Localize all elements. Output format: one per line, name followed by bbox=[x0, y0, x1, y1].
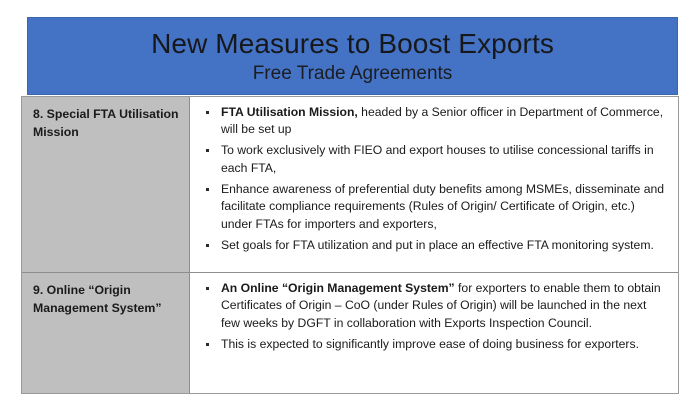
bullet-list: FTA Utilisation Mission, headed by a Sen… bbox=[202, 104, 666, 254]
row-body-cell: FTA Utilisation Mission, headed by a Sen… bbox=[190, 97, 678, 272]
bullet-list: An Online “Origin Management System” for… bbox=[202, 280, 666, 353]
row-label-text: 9. Online “Origin Management System” bbox=[33, 282, 179, 318]
list-item: This is expected to significantly improv… bbox=[202, 336, 666, 353]
row-label-cell: 9. Online “Origin Management System” bbox=[22, 273, 190, 393]
list-item: Set goals for FTA utilization and put in… bbox=[202, 237, 666, 254]
page-subtitle: Free Trade Agreements bbox=[253, 62, 453, 86]
row-label-cell: 8. Special FTA Utilisation Mission bbox=[22, 97, 190, 272]
bullet-text: To work exclusively with FIEO and export… bbox=[221, 143, 654, 174]
bullet-text: Enhance awareness of preferential duty b… bbox=[221, 182, 664, 231]
bullet-text: Set goals for FTA utilization and put in… bbox=[221, 238, 654, 252]
slide-root: New Measures to Boost Exports Free Trade… bbox=[0, 0, 700, 408]
row-label-text: 8. Special FTA Utilisation Mission bbox=[33, 106, 179, 142]
table-row: 8. Special FTA Utilisation Mission FTA U… bbox=[22, 97, 678, 273]
header-banner: New Measures to Boost Exports Free Trade… bbox=[27, 17, 678, 95]
list-item: To work exclusively with FIEO and export… bbox=[202, 142, 666, 177]
bullet-text: This is expected to significantly improv… bbox=[221, 337, 639, 351]
list-item: FTA Utilisation Mission, headed by a Sen… bbox=[202, 104, 666, 139]
table-row: 9. Online “Origin Management System” An … bbox=[22, 273, 678, 393]
measures-table: 8. Special FTA Utilisation Mission FTA U… bbox=[21, 96, 679, 394]
bullet-bold-lead: FTA Utilisation Mission, bbox=[221, 105, 358, 119]
row-body-cell: An Online “Origin Management System” for… bbox=[190, 273, 678, 393]
bullet-bold-lead: An Online “Origin Management System” bbox=[221, 281, 455, 295]
list-item: An Online “Origin Management System” for… bbox=[202, 280, 666, 332]
page-title: New Measures to Boost Exports bbox=[151, 28, 554, 59]
list-item: Enhance awareness of preferential duty b… bbox=[202, 181, 666, 233]
